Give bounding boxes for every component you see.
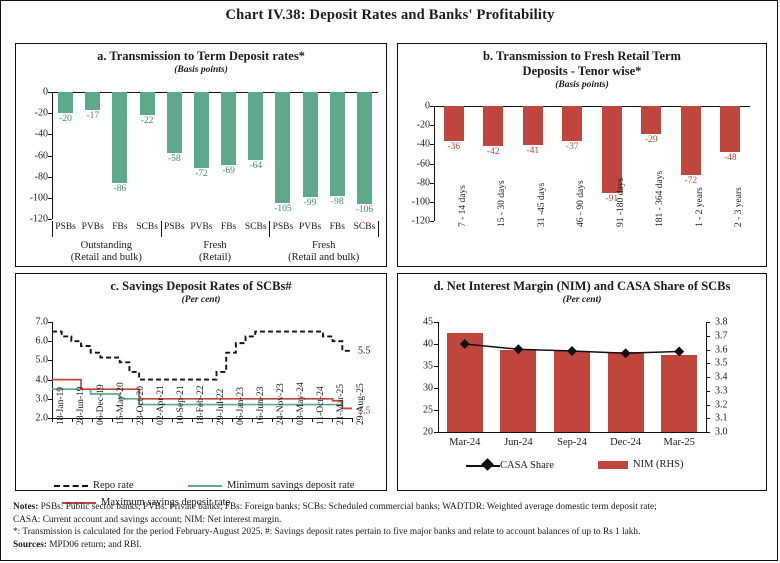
panel-b-bar	[562, 106, 582, 141]
panel-c-xlabel: 16-Jun-23	[256, 386, 266, 425]
panel-a-xcat: SCBs	[136, 222, 158, 232]
panel-a-bar	[112, 92, 127, 183]
panel-b-ytick: -20	[402, 120, 430, 131]
panel-c-xtick	[272, 418, 273, 422]
notes-line-3: *: Transmission is calculated for the pe…	[13, 526, 769, 539]
panel-d-legend-nim-label: NIM (RHS)	[633, 459, 683, 470]
panel-a-bar-label: -69	[222, 166, 235, 176]
panel-a-ytick: -100	[20, 192, 48, 203]
panel-b-xcat: 91 -180 days	[616, 178, 626, 227]
panel-a-bar	[248, 92, 263, 160]
panel-d-ytick-left: 25	[406, 405, 433, 416]
panel-b-ytick: -100	[402, 196, 430, 207]
panel-c-xtick	[52, 418, 53, 422]
panel-b-xcat: 1 - 2 years	[695, 187, 705, 227]
panel-c-xlabel: 21-Mar-25	[336, 384, 346, 425]
panel-a-bar-label: -20	[59, 114, 72, 124]
panel-a-xcat: SCBs	[354, 222, 376, 232]
panel-a-bar	[330, 92, 345, 196]
panel-c-xtick	[132, 418, 133, 422]
panel-c-xlabel: 10-Sep-21	[176, 385, 186, 425]
panel-a-bar	[140, 92, 155, 115]
panel-a-group-label-line2: (Retail)	[199, 252, 231, 264]
panel-d-ytick-left: 35	[406, 361, 433, 372]
panel-d-ytick-right: 3.0	[715, 427, 728, 438]
notes-line-1: Notes: PSBs: Public sector banks; PVBs: …	[13, 501, 769, 514]
panel-a-bar-label: -17	[86, 111, 99, 121]
panel-d-x-axis	[438, 432, 706, 433]
panel-d-xcat: Mar-25	[664, 437, 695, 448]
panel-b-zero-axis	[434, 106, 750, 107]
sources-line: Sources: MPD06 return; and RBI.	[13, 539, 769, 552]
panel-b-ytick: -40	[402, 139, 430, 150]
panel-d-marker	[567, 346, 577, 356]
panel-a-bar-label: -64	[249, 161, 262, 171]
panel-b-tick	[430, 221, 434, 222]
panel-a-ytick: -80	[20, 171, 48, 182]
panel-d-tick-right	[706, 432, 710, 433]
panel-c-xlabel: 02-Apr-21	[156, 385, 166, 425]
panel-c-legend-min-label: Minimum savings deposit rate	[227, 480, 354, 491]
panel-d-xcat: Jun-24	[504, 437, 533, 448]
panel-c-xtick	[92, 418, 93, 422]
panel-c-legend-repo-label: Repo rate	[93, 480, 134, 491]
panel-c-ytick: 4.0	[20, 374, 48, 385]
casa-diamond-icon	[481, 458, 494, 471]
panel-d-ytick-left: 30	[406, 383, 433, 394]
panel-a-xcat: FBs	[221, 222, 236, 232]
panel-c-xlabel: 18-Jan-19	[56, 387, 66, 425]
panel-a-xcat: FBs	[330, 222, 345, 232]
panel-c-legend-min: Minimum savings deposit rate	[188, 480, 354, 491]
panel-d-ytick-right: 3.1	[715, 413, 728, 424]
panel-a-ytick: -60	[20, 150, 48, 161]
panel-d-casa-line	[438, 322, 706, 432]
panel-a-xcat: PVBs	[299, 222, 321, 232]
panel-c-xtick	[172, 418, 173, 422]
panel-b-bar-label: -42	[487, 147, 500, 157]
panel-a-bar	[275, 92, 290, 203]
sources-label: Sources:	[13, 540, 47, 550]
panel-b-bar	[720, 106, 740, 152]
panel-c-xlabel: 15-May-20	[116, 382, 126, 425]
panel-d-legend-nim: NIM (RHS)	[598, 459, 683, 470]
panel-c-plot: 2.03.04.05.06.07.05.52.518-Jan-1928-Jun-…	[16, 274, 388, 492]
panel-c-end-label-repo: 5.5	[358, 345, 371, 356]
panel-d-ytick-right: 3.6	[715, 344, 728, 355]
panel-a-bar	[58, 92, 73, 113]
panel-d-ytick-right: 3.8	[715, 317, 728, 328]
panel-a-bar	[221, 92, 236, 165]
panel-a-tick	[48, 219, 52, 220]
panel-a-bar-label: -105	[274, 204, 291, 214]
panel-d-marker	[621, 348, 631, 358]
panel-c-xlabel: 29-Jul-22	[216, 389, 226, 425]
panel-c-series	[52, 332, 352, 380]
panel-a-group-label-line2: (Retail and bulk)	[288, 252, 359, 264]
panel-a-bar	[303, 92, 318, 197]
panel-a-xcat: FBs	[112, 222, 127, 232]
panel-c-xlabel: 03-May-24	[296, 382, 306, 425]
panel-a-group-label-line1: Outstanding	[71, 240, 142, 252]
panel-a-ytick: 0	[20, 87, 48, 98]
panel-d-nim-casa: d. Net Interest Margin (NIM) and CASA Sh…	[397, 273, 767, 491]
panel-b-bar-label: -41	[526, 146, 539, 156]
panel-c-xtick	[72, 418, 73, 422]
notes-block: Notes: PSBs: Public sector banks; PVBs: …	[13, 501, 769, 551]
panel-c-xtick	[152, 418, 153, 422]
sources-text: MPD06 return; and RBI.	[49, 540, 141, 550]
panel-a-bar	[167, 92, 182, 153]
panel-d-xcat: Sep-24	[557, 437, 587, 448]
panel-b-ytick: -120	[402, 216, 430, 227]
panel-c-ytick: 6.0	[20, 336, 48, 347]
panel-c-xtick	[252, 418, 253, 422]
panel-b-xcat: 2 - 3 years	[734, 187, 744, 227]
panel-a-group-label-line1: Fresh	[199, 240, 231, 252]
panel-d-ytick-right: 3.3	[715, 385, 728, 396]
panel-a-bar-label: -58	[168, 154, 181, 164]
panel-b-bar	[444, 106, 464, 141]
panel-b-transmission-tenor: b. Transmission to Fresh Retail Term Dep…	[397, 43, 767, 267]
panel-b-bar	[641, 106, 661, 134]
panel-b-ytick: -80	[402, 177, 430, 188]
panel-c-xlabel: 18-Feb-22	[196, 385, 206, 425]
panel-a-group-sep	[161, 221, 162, 237]
panel-c-xlabel: 29-Aug-25	[356, 383, 366, 425]
panel-b-xcat: 31 -45 days	[537, 183, 547, 227]
panel-b-bar	[681, 106, 701, 175]
panel-d-legend-casa: CASA Share	[466, 459, 554, 471]
panel-b-xcat: 7 - 14 days	[458, 185, 468, 227]
panel-a-bar-label: -99	[304, 198, 317, 208]
panel-c-xlabel: 06-Dec-19	[96, 384, 106, 425]
panel-b-bar	[523, 106, 543, 145]
panel-b-ytick: -60	[402, 158, 430, 169]
panel-a-xcat: PVBs	[82, 222, 104, 232]
panel-d-marker	[674, 346, 684, 356]
panel-c-xlabel: 24-Nov-23	[276, 383, 286, 425]
panel-c-xtick	[212, 418, 213, 422]
panel-c-xtick	[352, 418, 353, 422]
panel-a-transmission-term-deposit: a. Transmission to Term Deposit rates* (…	[15, 43, 387, 267]
panel-a-bar	[357, 92, 372, 204]
panel-c-xtick	[292, 418, 293, 422]
panel-a-bar-label: -72	[195, 169, 208, 179]
notes-label: Notes:	[13, 502, 38, 512]
panel-b-bar-label: -72	[684, 176, 697, 186]
panel-c-xlabel: 23-Oct-20	[136, 386, 146, 425]
panel-a-group-sep	[378, 221, 379, 237]
panel-d-ytick-right: 3.2	[715, 399, 728, 410]
panel-b-bar	[483, 106, 503, 146]
panel-c-xtick	[312, 418, 313, 422]
panel-b-bar-label: -29	[645, 135, 658, 145]
nim-bar-swatch	[598, 461, 628, 469]
panel-a-y-axis	[52, 92, 53, 219]
repo-line-swatch	[54, 485, 88, 487]
panel-d-ytick-left: 40	[406, 339, 433, 350]
panel-a-group-label: Fresh(Retail)	[199, 240, 231, 264]
panel-a-group-label: Fresh(Retail and bulk)	[288, 240, 359, 264]
panel-c-ytick: 3.0	[20, 393, 48, 404]
panel-c-xtick	[192, 418, 193, 422]
panel-a-group-sep	[52, 221, 53, 237]
panel-b-xcat: 181 - 364 days	[655, 171, 665, 227]
panel-d-y-axis-right	[706, 322, 707, 432]
panel-c-xlabel: 06-Jan-23	[236, 387, 246, 425]
panel-a-plot: 0-20-40-60-80-100-120-20PSBs-17PVBs-86FB…	[16, 44, 388, 268]
panel-d-ytick-left: 20	[406, 427, 433, 438]
panel-c-savings-deposit-rates: c. Savings Deposit Rates of SCBs# (Per c…	[15, 273, 387, 491]
panel-d-marker	[460, 339, 470, 349]
panel-a-bar	[194, 92, 209, 168]
panel-b-xcat: 15 - 30 days	[497, 180, 507, 227]
panel-a-xcat: PSBs	[273, 222, 294, 232]
panel-d-ytick-right: 3.7	[715, 330, 728, 341]
notes-text-1: PSBs: Public sector banks; PVBs: Private…	[41, 502, 657, 512]
panel-d-plot: 2025303540453.03.13.23.33.43.53.63.73.8M…	[398, 274, 768, 492]
panel-b-bar-label: -48	[724, 153, 737, 163]
panel-d-xcat: Mar-24	[449, 437, 480, 448]
notes-line-2: CASA: Current account and savings accoun…	[13, 514, 769, 527]
panel-a-bar	[85, 92, 100, 110]
panel-a-group-sep	[269, 221, 270, 237]
panel-a-bar-label: -98	[331, 197, 344, 207]
panel-c-xtick	[112, 418, 113, 422]
panel-a-xcat: SCBs	[245, 222, 267, 232]
panel-b-plot: 0-20-40-60-80-100-120-367 - 14 days-4215…	[398, 44, 768, 268]
panel-a-bar-label: -22	[141, 116, 154, 126]
panel-d-marker	[513, 344, 523, 354]
panel-d-ytick-right: 3.4	[715, 372, 728, 383]
panel-a-xcat: PVBs	[190, 222, 212, 232]
panel-b-ytick: 0	[402, 101, 430, 112]
panel-d-ytick-right: 3.5	[715, 358, 728, 369]
panel-a-bar-label: -106	[356, 205, 373, 215]
panel-c-xtick	[232, 418, 233, 422]
chart-figure: Chart IV.38: Deposit Rates and Banks' Pr…	[0, 0, 778, 561]
panel-c-xlabel: 28-Jun-19	[76, 386, 86, 425]
panel-b-bar-label: -37	[566, 142, 579, 152]
panel-a-xcat: PSBs	[55, 222, 76, 232]
page-title: Chart IV.38: Deposit Rates and Banks' Pr…	[1, 7, 779, 24]
panel-b-y-axis	[434, 106, 435, 221]
panel-a-xcat: PSBs	[164, 222, 185, 232]
panel-c-ytick: 2.0	[20, 413, 48, 424]
panel-d-ytick-left: 45	[406, 317, 433, 328]
panel-a-group-label: Outstanding(Retail and bulk)	[71, 240, 142, 264]
panel-a-ytick: -120	[20, 214, 48, 225]
panel-d-xcat: Dec-24	[610, 437, 641, 448]
panel-c-xlabel: 11-Oct-24	[316, 386, 326, 425]
panel-b-bar-label: -36	[447, 142, 460, 152]
panel-b-xcat: 46 - 90 days	[576, 180, 586, 227]
panel-a-group-label-line2: (Retail and bulk)	[71, 252, 142, 264]
panel-a-ytick: -40	[20, 129, 48, 140]
panel-a-ytick: -20	[20, 108, 48, 119]
panel-c-legend-repo: Repo rate	[54, 480, 134, 491]
panel-a-bar-label: -86	[114, 184, 127, 194]
panel-c-ytick: 5.0	[20, 355, 48, 366]
panel-c-ytick: 7.0	[20, 317, 48, 328]
panel-a-group-label-line1: Fresh	[288, 240, 359, 252]
panel-c-xtick	[332, 418, 333, 422]
min-line-swatch	[188, 485, 222, 487]
panel-d-legend-casa-label: CASA Share	[500, 460, 554, 471]
